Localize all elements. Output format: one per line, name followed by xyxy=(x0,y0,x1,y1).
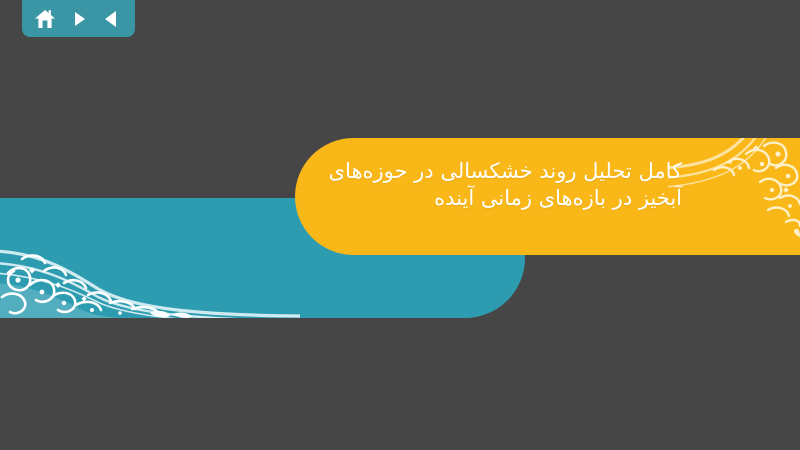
slide-title: کامل تحلیل روند خشکسالی در حوزه‌های آبخی… xyxy=(329,158,682,213)
home-icon xyxy=(34,9,56,30)
home-button[interactable] xyxy=(33,7,57,31)
arabesque-ornament-icon xyxy=(668,138,800,248)
back-button[interactable] xyxy=(100,7,124,31)
arabesque-ornament-icon xyxy=(0,213,300,318)
navigation-bar xyxy=(22,0,135,37)
slide-title-line-1: کامل تحلیل روند خشکسالی در حوزه‌های xyxy=(329,158,682,185)
back-triangle-icon xyxy=(102,9,122,29)
forward-triangle-icon xyxy=(69,9,89,29)
slide-title-line-2: آبخیز در بازه‌های زمانی آینده xyxy=(329,185,682,212)
forward-button[interactable] xyxy=(67,7,91,31)
slide-canvas: کامل تحلیل روند خشکسالی در حوزه‌های آبخی… xyxy=(0,0,800,450)
